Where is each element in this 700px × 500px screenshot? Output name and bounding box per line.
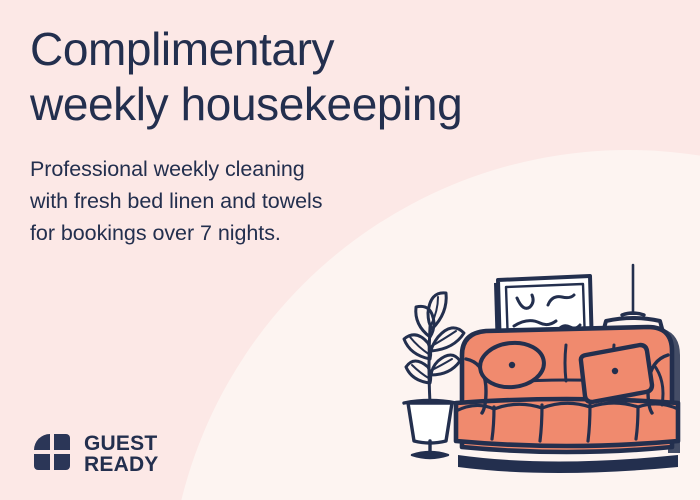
promo-banner: Complimentary weekly housekeeping Profes…: [0, 0, 700, 500]
brand-line-2: READY: [84, 455, 159, 475]
brand-logo[interactable]: GUEST READY: [31, 431, 159, 478]
brand-line-1: GUEST: [84, 434, 159, 454]
subheading-text: Professional weekly cleaning with fresh …: [30, 132, 630, 249]
living-room-illustration: [390, 255, 700, 500]
page-title: Complimentary weekly housekeeping: [30, 22, 630, 132]
copy-block: Complimentary weekly housekeeping Profes…: [30, 22, 630, 249]
brand-wordmark: GUEST READY: [84, 434, 159, 474]
sofa-icon: [456, 327, 680, 473]
guestready-mark-icon: [31, 431, 73, 478]
